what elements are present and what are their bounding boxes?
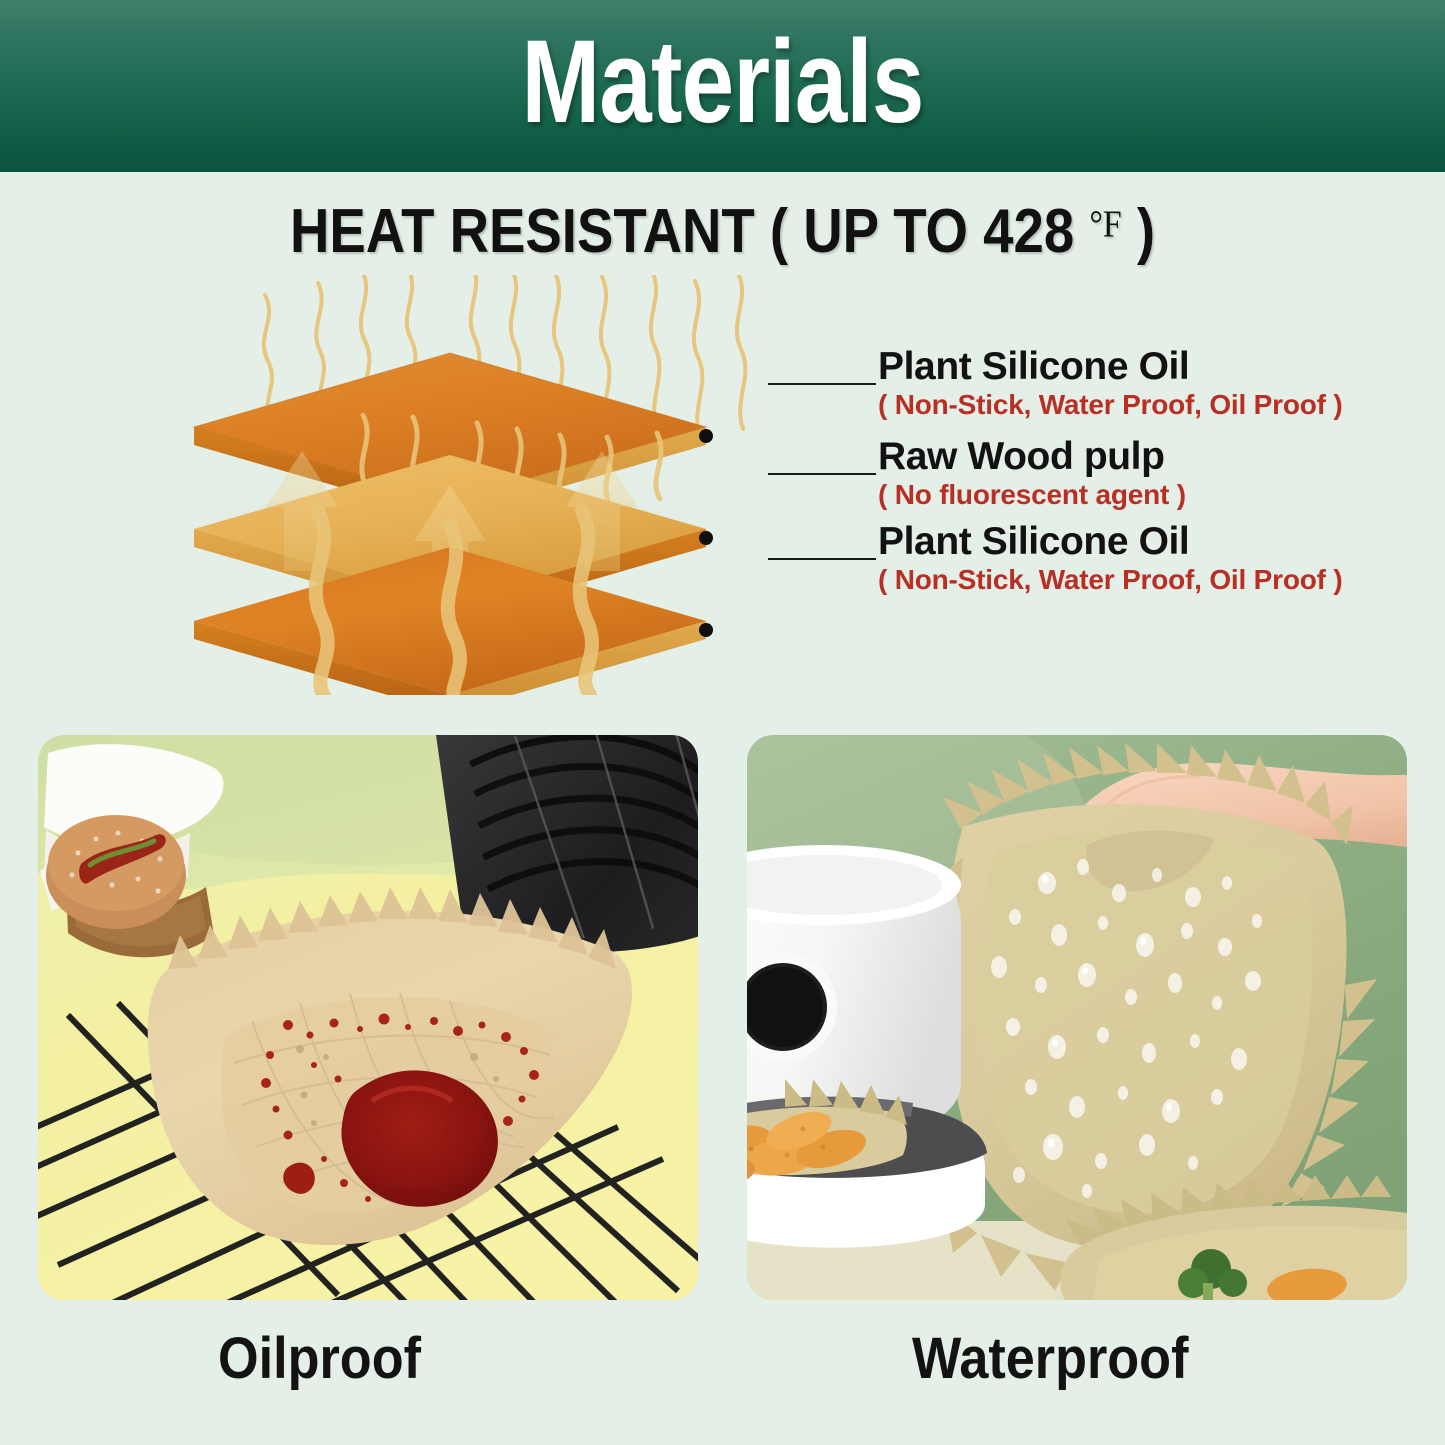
degree-fahrenheit-unit: °F: [1089, 204, 1121, 246]
caption-waterproof: Waterproof: [747, 1325, 1407, 1392]
photo-waterproof: [747, 735, 1407, 1300]
layer-title-bottom: Plant Silicone Oil: [878, 520, 1189, 564]
layer-connector-dot-middle: [699, 531, 713, 545]
caption-oilproof-text: Oilproof: [218, 1325, 421, 1392]
layer-title-top: Plant Silicone Oil: [878, 345, 1189, 389]
heat-resistant-heading: HEAT RESISTANT ( UP TO 428 °F ): [0, 196, 1445, 267]
layer-connector-dot-bottom: [699, 623, 713, 637]
layer-subtitle-top: ( Non-Stick, Water Proof, Oil Proof ): [878, 389, 1342, 421]
caption-oilproof: Oilproof: [38, 1325, 698, 1392]
leader-line-top: [768, 383, 876, 385]
page-header: Materials: [0, 0, 1445, 172]
caption-waterproof-text: Waterproof: [912, 1325, 1188, 1392]
page-title: Materials: [145, 18, 1301, 148]
layer-title-middle: Raw Wood pulp: [878, 435, 1165, 479]
heat-resistant-prefix: HEAT RESISTANT ( UP TO 428: [290, 197, 1089, 266]
layer-connector-dot-top: [699, 429, 713, 443]
leader-line-bottom: [768, 558, 876, 560]
leader-line-middle: [768, 473, 876, 475]
layer-subtitle-middle: ( No fluorescent agent ): [878, 479, 1186, 511]
layer-labels: Plant Silicone Oil ( Non-Stick, Water Pr…: [760, 345, 1320, 595]
layer-subtitle-bottom: ( Non-Stick, Water Proof, Oil Proof ): [878, 564, 1342, 596]
photo-oilproof: [38, 735, 698, 1300]
heat-resistant-suffix: ): [1122, 197, 1155, 266]
air-fryer: [747, 845, 987, 1248]
material-layer-diagram: [150, 275, 830, 695]
